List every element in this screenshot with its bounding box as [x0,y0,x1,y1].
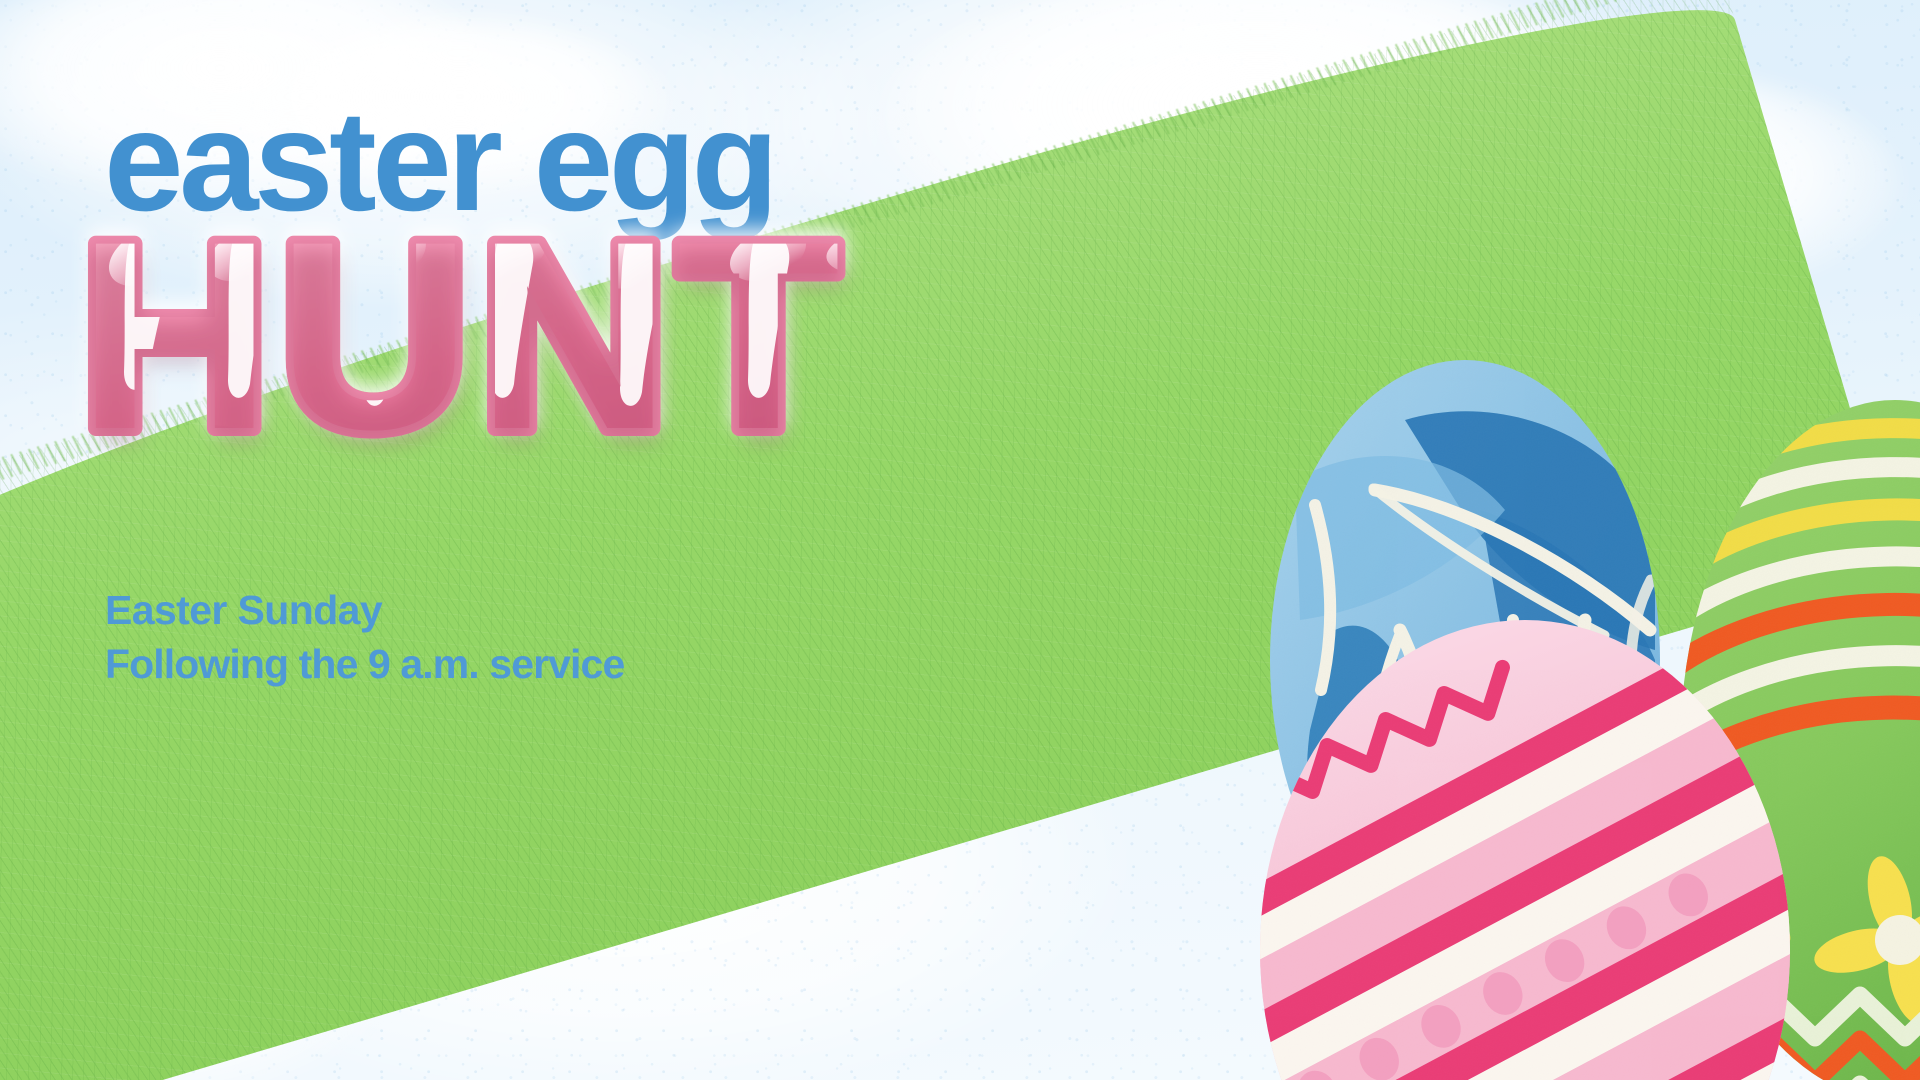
subtitle-line-2: Following the 9 a.m. service [105,637,624,691]
event-details: Easter Sunday Following the 9 a.m. servi… [105,583,624,691]
headline-hunt: HUNT HUNT HUNT [78,196,1008,486]
poster-canvas: easter egg [0,0,1920,1080]
subtitle-line-1: Easter Sunday [105,583,624,637]
